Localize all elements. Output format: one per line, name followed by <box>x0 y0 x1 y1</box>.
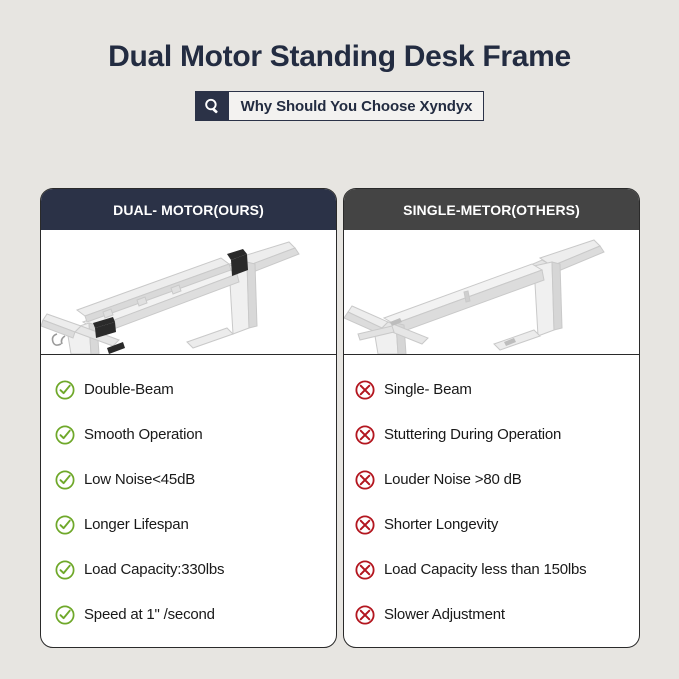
feature-row: Speed at 1" /second <box>41 592 336 637</box>
search-banner-row: Why Should You Choose Xyndyx <box>0 91 679 121</box>
feature-label: Load Capacity:330lbs <box>84 561 224 578</box>
feature-label: Double-Beam <box>84 381 174 398</box>
feature-label: Smooth Operation <box>84 426 203 443</box>
feature-label: Slower Adjustment <box>384 606 505 623</box>
feature-label: Longer Lifespan <box>84 516 189 533</box>
comparison-column-ours: DUAL- MOTOR(OURS) <box>40 188 337 648</box>
column-header-others: SINGLE-METOR(OTHERS) <box>344 189 639 230</box>
cross-circle-icon <box>354 424 376 446</box>
feature-row: Load Capacity:330lbs <box>41 547 336 592</box>
feature-label: Stuttering During Operation <box>384 426 561 443</box>
feature-label: Low Noise<45dB <box>84 471 195 488</box>
feature-label: Louder Noise >80 dB <box>384 471 522 488</box>
feature-row: Load Capacity less than 150lbs <box>344 547 639 592</box>
column-header-ours: DUAL- MOTOR(OURS) <box>41 189 336 230</box>
feature-list-others: Single- Beam Stuttering During Operation <box>344 355 639 647</box>
check-circle-icon <box>54 604 76 626</box>
comparison-table: DUAL- MOTOR(OURS) <box>40 188 640 648</box>
feature-label: Load Capacity less than 150lbs <box>384 561 586 578</box>
cross-circle-icon <box>354 379 376 401</box>
search-banner[interactable]: Why Should You Choose Xyndyx <box>195 91 485 121</box>
feature-label: Speed at 1" /second <box>84 606 215 623</box>
feature-row: Smooth Operation <box>41 412 336 457</box>
feature-row: Longer Lifespan <box>41 502 336 547</box>
comparison-column-others: SINGLE-METOR(OTHERS) <box>343 188 640 648</box>
feature-list-ours: Double-Beam Smooth Operation <box>41 355 336 647</box>
feature-label: Shorter Longevity <box>384 516 498 533</box>
feature-row: Shorter Longevity <box>344 502 639 547</box>
check-circle-icon <box>54 559 76 581</box>
feature-row: Low Noise<45dB <box>41 457 336 502</box>
check-circle-icon <box>54 514 76 536</box>
check-circle-icon <box>54 379 76 401</box>
feature-row: Stuttering During Operation <box>344 412 639 457</box>
cross-circle-icon <box>354 469 376 491</box>
feature-label: Single- Beam <box>384 381 472 398</box>
page-title: Dual Motor Standing Desk Frame <box>0 0 679 72</box>
cross-circle-icon <box>354 559 376 581</box>
feature-row: Slower Adjustment <box>344 592 639 637</box>
check-circle-icon <box>54 424 76 446</box>
search-banner-label: Why Should You Choose Xyndyx <box>229 92 484 120</box>
cross-circle-icon <box>354 604 376 626</box>
product-image-single-motor <box>344 230 639 355</box>
product-image-dual-motor <box>41 230 336 355</box>
check-circle-icon <box>54 469 76 491</box>
feature-row: Double-Beam <box>41 367 336 412</box>
feature-row: Single- Beam <box>344 367 639 412</box>
magnifier-icon <box>196 92 229 120</box>
feature-row: Louder Noise >80 dB <box>344 457 639 502</box>
cross-circle-icon <box>354 514 376 536</box>
